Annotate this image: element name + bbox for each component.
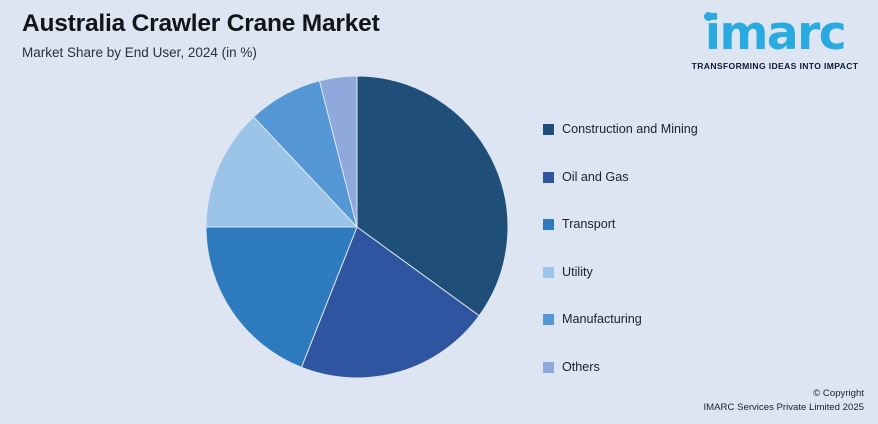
- legend-swatch-icon: [543, 314, 554, 325]
- legend-item[interactable]: Manufacturing: [543, 296, 843, 344]
- pie-chart-svg: [204, 74, 510, 380]
- chart-subtitle: Market Share by End User, 2024 (in %): [22, 45, 662, 61]
- imarc-logo: imarc TRANSFORMING IDEAS INTO IMPACT: [680, 8, 870, 71]
- legend-item[interactable]: Construction and Mining: [543, 106, 843, 154]
- copyright-line: © Copyright: [704, 387, 865, 401]
- pie-chart: [204, 74, 510, 380]
- legend-item[interactable]: Utility: [543, 249, 843, 297]
- legend-item-label: Construction and Mining: [562, 123, 698, 136]
- chart-page: Australia Crawler Crane Market Market Sh…: [0, 0, 878, 424]
- chart-header: Australia Crawler Crane Market Market Sh…: [22, 10, 662, 61]
- legend-swatch-icon: [543, 267, 554, 278]
- pie-slice-group: [206, 76, 508, 378]
- legend-item[interactable]: Oil and Gas: [543, 154, 843, 202]
- copyright-footer: © Copyright IMARC Services Private Limit…: [704, 387, 865, 415]
- legend-item-label: Transport: [562, 218, 615, 231]
- chart-legend: Construction and MiningOil and GasTransp…: [543, 106, 843, 391]
- imarc-wordmark: imarc: [680, 8, 870, 60]
- legend-item-label: Utility: [562, 266, 593, 279]
- logo-dot-icon: [704, 12, 713, 21]
- legend-swatch-icon: [543, 362, 554, 373]
- legend-item[interactable]: Others: [543, 344, 843, 392]
- copyright-owner: IMARC Services Private Limited 2025: [704, 401, 865, 415]
- legend-item-label: Others: [562, 361, 600, 374]
- legend-swatch-icon: [543, 124, 554, 135]
- imarc-wordmark-text: imarc: [705, 6, 845, 61]
- page-title: Australia Crawler Crane Market: [22, 10, 662, 38]
- legend-item-label: Oil and Gas: [562, 171, 629, 184]
- imarc-tagline: TRANSFORMING IDEAS INTO IMPACT: [680, 61, 870, 71]
- legend-item[interactable]: Transport: [543, 201, 843, 249]
- legend-swatch-icon: [543, 172, 554, 183]
- legend-item-label: Manufacturing: [562, 313, 642, 326]
- legend-swatch-icon: [543, 219, 554, 230]
